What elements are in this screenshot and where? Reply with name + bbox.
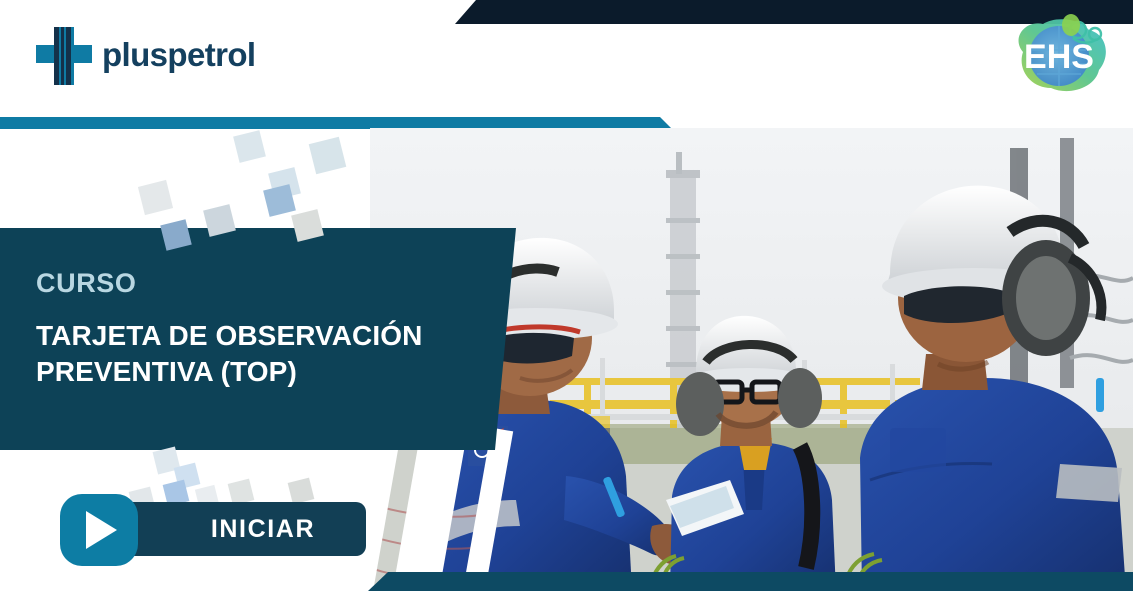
course-title: TARJETA DE OBSERVACIÓN PREVENTIVA (TOP) [36,318,496,390]
start-button[interactable]: INICIAR [116,502,366,556]
page-header: pluspetrol [0,0,1133,117]
decorative-square [233,130,266,163]
decorative-square [288,478,315,505]
decorative-square [309,137,347,175]
pluspetrol-cross-logo-icon [36,27,92,85]
course-splash-screen: pluspetrol [0,0,1133,591]
bottom-accent-bar [0,572,1133,591]
decorative-square [138,180,173,215]
play-triangle-icon[interactable] [60,494,138,566]
course-eyebrow-label: CURSO [36,268,137,298]
pluspetrol-wordmark: pluspetrol [102,38,256,71]
ehs-logo-text: EHS [1024,38,1094,76]
start-button-label: INICIAR [211,515,315,544]
ehs-globe-leaf-logo-icon[interactable]: EHS [999,12,1119,98]
pluspetrol-logo[interactable]: pluspetrol [36,27,266,85]
